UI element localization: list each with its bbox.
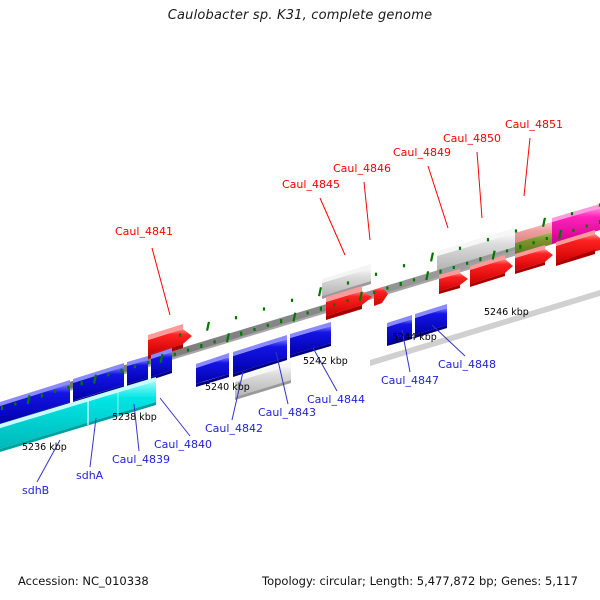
tick-mark [459,247,461,250]
tick-mark [267,324,269,327]
tick-mark [121,369,123,373]
tick-mark [280,319,282,323]
genome-map-svg[interactable]: Caul_4841Caul_4845Caul_4846Caul_4849Caul… [0,30,600,560]
gene-label-caul_4841[interactable]: Caul_4841 [115,225,173,238]
genome-map-canvas[interactable]: Caul_4841Caul_4845Caul_4846Caul_4849Caul… [0,30,600,560]
leader-line-caul_4840 [160,398,190,436]
gene-caul-4844[interactable] [290,322,331,358]
tick-mark [430,252,434,261]
leader-line-caul_4849 [428,166,448,228]
tick-mark [439,270,441,274]
gene-label-caul_4840[interactable]: Caul_4840 [154,438,212,451]
leader-line-caul_4850 [477,152,482,218]
status-bar: Accession: NC_010338 Topology: circular;… [0,560,600,600]
tick-mark [320,307,322,311]
tick-mark [54,390,56,393]
gene-label-caul_4843[interactable]: Caul_4843 [258,406,316,419]
tick-mark [479,257,481,261]
tick-mark [546,237,548,240]
page-title: Caulobacter sp. K31, complete genome [0,8,600,23]
tick-mark [413,278,415,281]
tick-mark [134,365,136,368]
tick-mark [403,264,405,267]
gene-label-caul_4848[interactable]: Caul_4848 [438,358,496,371]
leader-line-caul_4844 [313,348,337,391]
tick-mark [386,287,388,290]
tick-mark [533,241,535,244]
scale-label-1[interactable]: 5238 kbp [112,412,157,423]
scale-label-3[interactable]: 5242 kbp [303,356,348,367]
tick-mark [235,316,237,319]
gene-label-caul_4839[interactable]: Caul_4839 [112,453,170,466]
tick-mark [506,249,508,252]
tick-mark [200,344,202,348]
gene-label-caul_4850[interactable]: Caul_4850 [443,132,501,145]
tick-mark [333,303,335,306]
tick-mark [318,287,322,296]
gene-label-caul_4846[interactable]: Caul_4846 [333,162,391,175]
leader-line-caul_4841 [152,248,170,315]
tick-mark [373,291,375,294]
tick-mark [67,386,69,389]
tick-mark [253,328,255,331]
tick-mark [375,273,377,276]
scale-label-2[interactable]: 5240 kbp [205,382,250,393]
tick-mark [307,311,309,314]
tick-mark [453,266,455,269]
gene-label-sdhb[interactable]: sdhB [22,484,49,497]
gene-label-caul_4851[interactable]: Caul_4851 [505,118,563,131]
gene-label-caul_4842[interactable]: Caul_4842 [205,422,263,435]
forward-strand-track[interactable] [148,204,600,359]
tick-mark [214,340,216,343]
tick-mark [515,229,517,232]
tick-mark [179,333,181,336]
leader-line-sdha [90,418,96,467]
tick-mark [400,282,402,286]
tick-mark [487,238,489,241]
tick-mark [466,262,468,265]
tick-mark [240,332,242,336]
gene-label-sdha[interactable]: sdhA [76,469,104,482]
tick-mark [519,245,521,249]
tick-mark [1,406,3,410]
leader-line-caul_4851 [524,138,530,196]
tick-mark [571,212,573,215]
tick-mark [14,402,16,405]
scale-label-4[interactable]: 5244 kbp [392,332,437,343]
gene-label-caul_4849[interactable]: Caul_4849 [393,146,451,159]
tick-mark [263,307,265,310]
tick-mark [586,225,588,228]
scale-label-0[interactable]: 5236 kbp [22,442,67,453]
tick-mark [81,381,83,385]
tick-mark [174,353,176,356]
topology-text: Topology: circular; Length: 5,477,872 bp… [262,574,578,588]
accession-text: Accession: NC_010338 [18,574,149,588]
tick-mark [147,361,149,364]
gene-label-caul_4844[interactable]: Caul_4844 [307,393,365,406]
tick-mark [206,322,210,331]
tick-mark [41,394,43,398]
gene-label-caul_4847[interactable]: Caul_4847 [381,374,439,387]
gene-label-caul_4845[interactable]: Caul_4845 [282,178,340,191]
tick-mark [187,349,189,352]
leader-line-caul_4845 [320,198,345,255]
scale-label-5[interactable]: 5246 kbp [484,307,529,318]
tick-mark [107,373,109,376]
genome-map-viewer: Caulobacter sp. K31, complete genome [0,0,600,600]
tick-mark [347,281,349,284]
leader-line-caul_4846 [364,182,370,240]
tick-mark [291,299,293,302]
tick-mark [572,229,574,232]
tick-mark [346,299,348,302]
feature-labels[interactable]: Caul_4841Caul_4845Caul_4846Caul_4849Caul… [22,118,563,497]
